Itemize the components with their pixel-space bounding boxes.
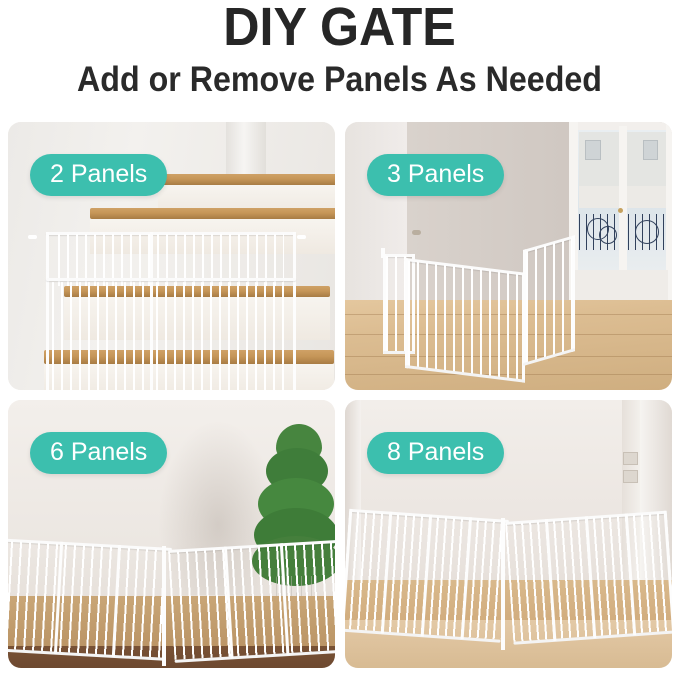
badge-panel-count: 3 Panels: [367, 154, 504, 196]
header: DIY GATE Add or Remove Panels As Needed: [0, 0, 679, 116]
product-infographic: DIY GATE Add or Remove Panels As Needed: [0, 0, 679, 674]
gate-panel-right: [523, 235, 575, 366]
french-door: [569, 122, 672, 328]
panel-card-3[interactable]: 3 Panels: [345, 122, 672, 390]
gate-section-left: [8, 539, 172, 666]
gate-section-left: [345, 509, 509, 648]
panel-card-2[interactable]: 2 Panels: [8, 122, 335, 390]
light-switch-upper[interactable]: [623, 452, 638, 465]
badge-panel-count: 8 Panels: [367, 432, 504, 474]
light-switch-lower[interactable]: [623, 470, 638, 483]
panel-card-8[interactable]: 8 Panels: [345, 400, 672, 668]
gate-panel-middle: [405, 258, 525, 383]
gate-section-right: [505, 511, 672, 650]
gate-section-right: [168, 539, 335, 667]
page-title: DIY GATE: [24, 0, 655, 56]
badge-panel-count: 6 Panels: [30, 432, 167, 474]
page-subtitle: Add or Remove Panels As Needed: [27, 60, 652, 100]
panel-card-6[interactable]: 6 Panels: [8, 400, 335, 668]
badge-panel-count: 2 Panels: [30, 154, 167, 196]
panel-grid: 2 Panels: [8, 122, 672, 682]
